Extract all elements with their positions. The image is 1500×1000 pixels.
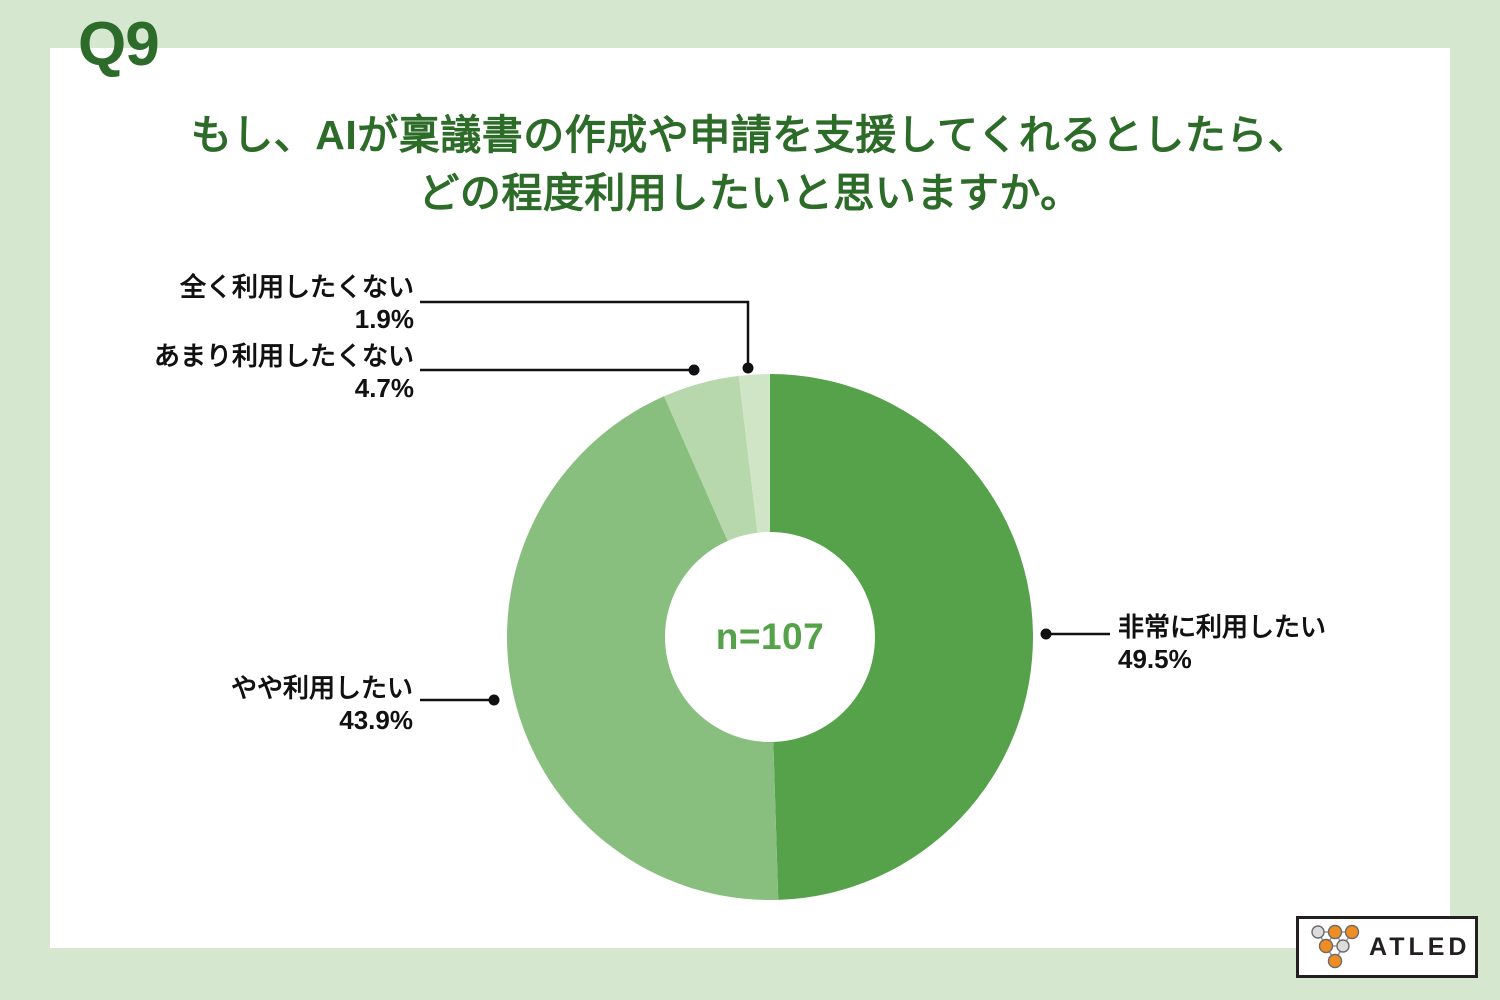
atled-logo: ATLED	[1296, 916, 1478, 978]
callout-percent-zenku: 1.9%	[150, 304, 414, 336]
title-line-2: どの程度利用したいと思いますか。	[100, 164, 1400, 222]
callout-percent-hijo: 49.5%	[1118, 644, 1326, 676]
callout-label-hijo: 非常に利用したい 49.5%	[1118, 612, 1326, 675]
slide-canvas: Q9 もし、AIが稟議書の作成や申請を支援してくれるとしたら、 どの程度利用した…	[0, 0, 1500, 1000]
callout-text-hijo: 非常に利用したい	[1118, 612, 1326, 642]
donut-hole	[665, 532, 875, 742]
callout-label-amari: あまり利用したくない 4.7%	[126, 341, 414, 404]
donut-chart: n=107	[507, 374, 1033, 900]
donut-chart-svg	[507, 374, 1033, 900]
page-title: もし、AIが稟議書の作成や申請を支援してくれるとしたら、 どの程度利用したいと思…	[100, 106, 1400, 222]
atled-logo-mark-icon	[1307, 922, 1363, 972]
callout-label-zenku: 全く利用したくない 1.9%	[150, 272, 414, 335]
atled-logo-text: ATLED	[1369, 935, 1470, 960]
question-number: Q9	[78, 14, 159, 76]
callout-label-yaya: やや利用したい 43.9%	[208, 673, 413, 736]
callout-text-amari: あまり利用したくない	[154, 341, 414, 371]
title-line-1: もし、AIが稟議書の作成や申請を支援してくれるとしたら、	[100, 106, 1400, 164]
callout-text-yaya: やや利用したい	[231, 673, 413, 703]
callout-percent-amari: 4.7%	[126, 373, 414, 405]
callout-percent-yaya: 43.9%	[208, 705, 413, 737]
callout-text-zenku: 全く利用したくない	[180, 272, 414, 302]
